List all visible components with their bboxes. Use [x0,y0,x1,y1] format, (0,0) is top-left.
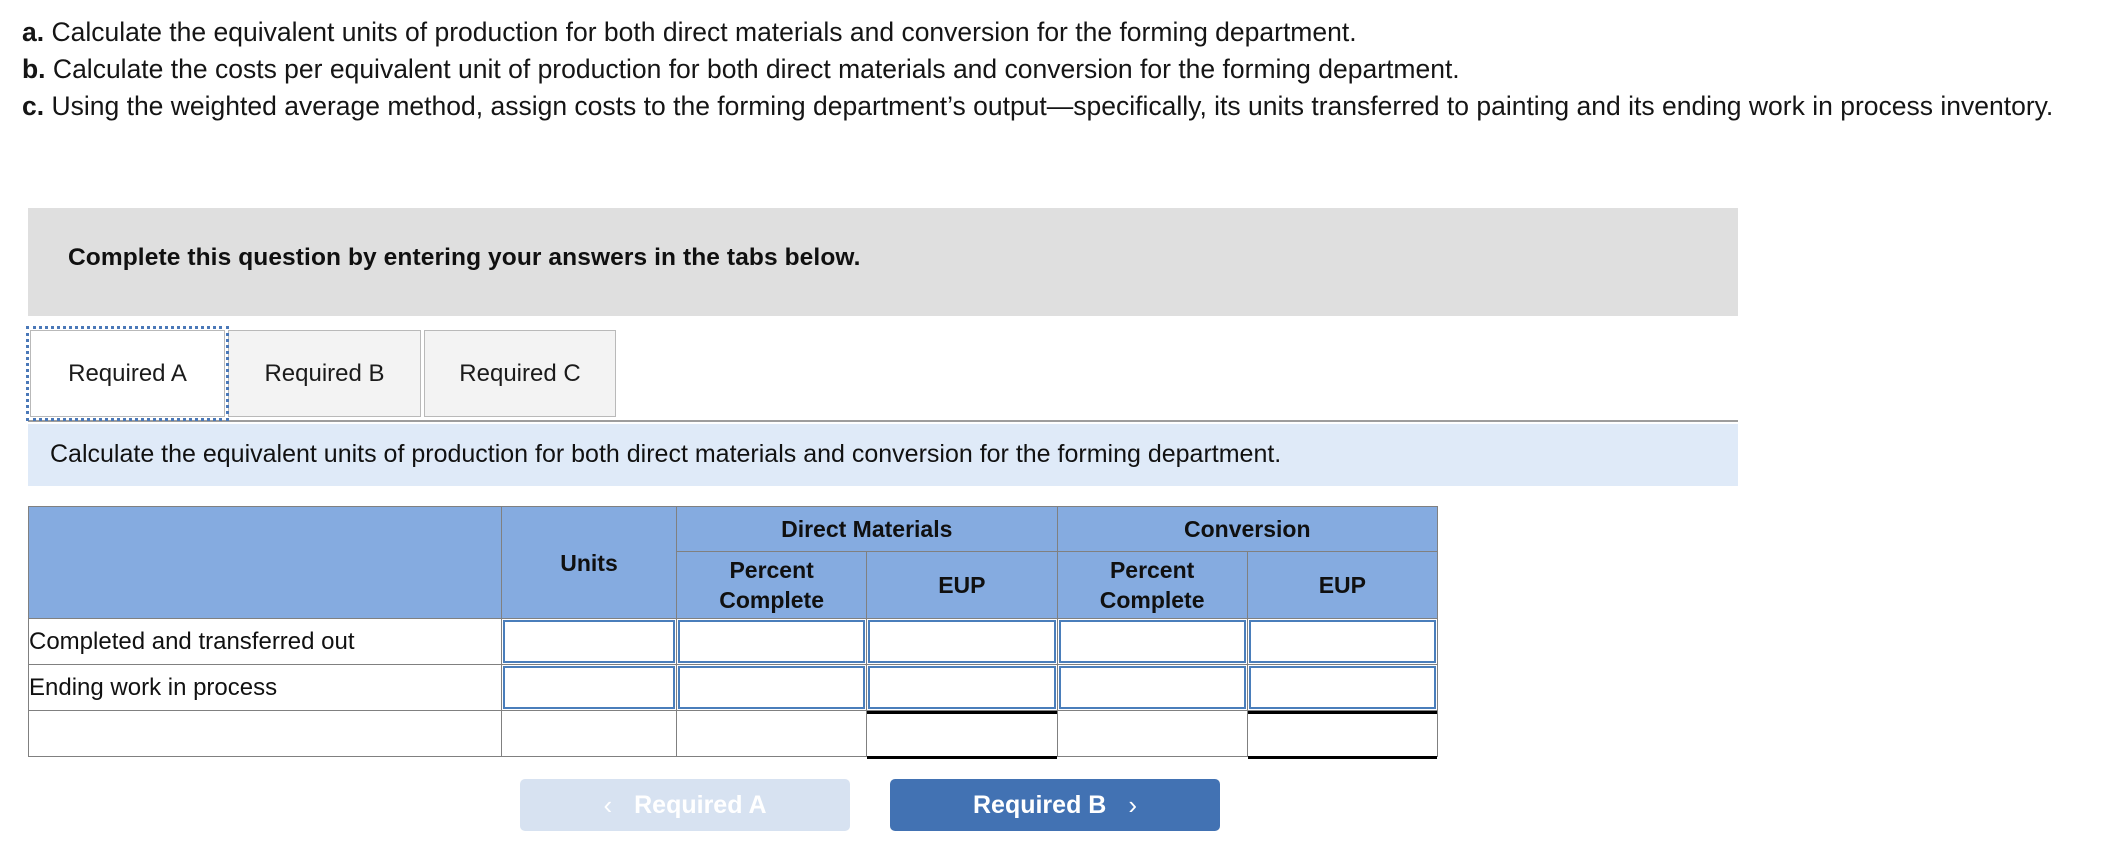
requirement-bar-text: Calculate the equivalent units of produc… [50,440,1281,469]
cell-units-ewip[interactable] [502,665,677,711]
prev-required-a-button[interactable]: ‹ Required A [520,779,850,831]
cell-total-units [502,711,677,757]
table-row: Completed and transferred out [29,619,1438,665]
tab-required-c[interactable]: Required C [424,330,616,417]
cell-dm-percent-ewip[interactable] [677,665,867,711]
header-dm-eup: EUP [867,552,1057,619]
prompt-text-a: Calculate the equivalent units of produc… [44,17,1356,47]
cell-units-completed[interactable] [502,619,677,665]
header-cv-percent-complete-label: PercentComplete [1100,557,1205,613]
table-row: Ending work in process [29,665,1438,711]
chevron-left-icon: ‹ [603,792,612,818]
input-dm-percent-ewip[interactable] [678,666,865,709]
cell-cv-percent-ewip[interactable] [1057,665,1247,711]
cell-cv-percent-completed[interactable] [1057,619,1247,665]
table-body: Completed and transferred out End [29,619,1438,757]
instruction-banner-text: Complete this question by entering your … [68,244,861,272]
input-cv-eup-ewip[interactable] [1249,666,1436,709]
cell-dm-eup-ewip[interactable] [867,665,1057,711]
next-required-b-button[interactable]: Required B › [890,779,1220,831]
table-row-total [29,711,1438,757]
prompt-text-b: Calculate the costs per equivalent unit … [46,54,1460,84]
next-required-b-label: Required B [973,791,1106,820]
instruction-banner: Complete this question by entering your … [28,208,1738,316]
equivalent-units-table: Units Direct Materials Conversion Percen… [28,506,1438,757]
input-units-completed[interactable] [503,620,675,663]
tab-required-b[interactable]: Required B [228,330,421,417]
cell-total-dm-eup [867,711,1057,757]
input-dm-eup-completed[interactable] [868,620,1055,663]
input-dm-percent-completed[interactable] [678,620,865,663]
header-conversion: Conversion [1057,507,1438,552]
tab-required-a[interactable]: Required A [30,330,225,417]
row-label-ending-work-in-process: Ending work in process [29,665,502,711]
prompt-line-a: a. Calculate the equivalent units of pro… [22,14,2104,51]
table-header-row-groups: Units Direct Materials Conversion [29,507,1438,552]
tab-bar-underline [28,420,1738,422]
tab-required-b-label: Required B [264,360,384,388]
cell-cv-eup-completed[interactable] [1247,619,1437,665]
row-label-completed-transferred-out: Completed and transferred out [29,619,502,665]
header-dm-percent-complete: PercentComplete [677,552,867,619]
input-cv-percent-ewip[interactable] [1059,666,1246,709]
prompt-line-c: c. Using the weighted average method, as… [22,88,2104,125]
header-blank [29,507,502,619]
navigation-buttons: ‹ Required A Required B › [520,779,1220,831]
input-dm-eup-ewip[interactable] [868,666,1055,709]
row-label-total [29,711,502,757]
tab-required-a-label: Required A [68,360,187,388]
cell-total-cv-percent [1057,711,1247,757]
prompt-lead-a: a. [22,17,44,47]
prompt-lead-c: c. [22,91,44,121]
input-cv-percent-completed[interactable] [1059,620,1246,663]
prev-required-a-label: Required A [634,791,766,820]
header-cv-eup: EUP [1247,552,1437,619]
cell-dm-eup-completed[interactable] [867,619,1057,665]
cell-cv-eup-ewip[interactable] [1247,665,1437,711]
input-cv-eup-completed[interactable] [1249,620,1436,663]
header-units: Units [502,507,677,619]
header-dm-percent-complete-label: PercentComplete [719,557,824,613]
prompt-lead-b: b. [22,54,46,84]
cell-total-dm-percent [677,711,867,757]
input-units-ewip[interactable] [503,666,675,709]
tab-bar: Required A Required B Required C [28,327,1738,422]
prompt-text-c: Using the weighted average method, assig… [44,91,2053,121]
header-direct-materials: Direct Materials [677,507,1058,552]
cell-dm-percent-completed[interactable] [677,619,867,665]
chevron-right-icon: › [1128,792,1137,818]
prompt-line-b: b. Calculate the costs per equivalent un… [22,51,2104,88]
header-cv-percent-complete: PercentComplete [1057,552,1247,619]
requirement-bar: Calculate the equivalent units of produc… [28,424,1738,486]
table-head: Units Direct Materials Conversion Percen… [29,507,1438,619]
tab-required-c-label: Required C [459,360,580,388]
answer-table-wrapper: Units Direct Materials Conversion Percen… [28,506,1438,757]
cell-total-cv-eup [1247,711,1437,757]
question-prompt: a. Calculate the equivalent units of pro… [0,0,2104,125]
